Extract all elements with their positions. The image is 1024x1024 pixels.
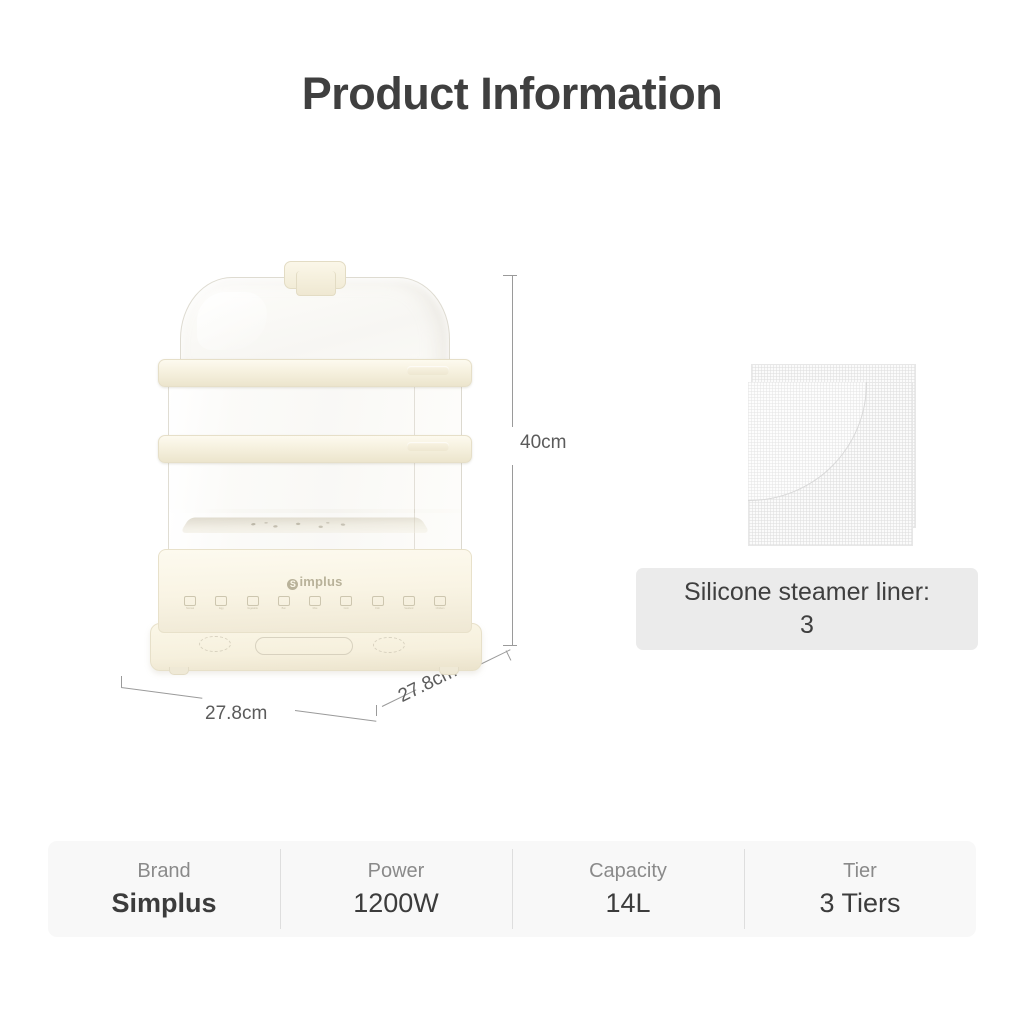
steamer-illustration: Simplus Normal Egg Vegetable Bun [150,255,480,685]
spec-label-brand: Brand [137,859,190,883]
dim-height-line-upper [512,275,513,427]
program-button[interactable]: Chicken [427,596,453,610]
program-button[interactable]: Bun [271,596,297,610]
program-bun-icon [278,596,290,606]
spec-cell-power: Power 1200W [280,841,512,937]
program-button[interactable]: Egg [208,596,234,610]
spec-value-tier: 3 Tiers [819,887,900,919]
tier-3-tray [180,518,430,533]
spec-label-capacity: Capacity [589,859,667,883]
dim-height-line-lower [512,465,513,645]
dim-width-label: 27.8cm [205,703,267,725]
program-normal-icon [184,596,196,606]
spec-label-power: Power [368,859,425,883]
program-fish-icon [372,596,384,606]
lid-knob [284,261,346,289]
silicone-liner-image [636,340,980,570]
brand-logo-mark-icon: S [287,579,298,590]
base-foot-right [439,667,459,675]
program-vegetable-icon [247,596,259,606]
program-corn-icon [340,596,352,606]
tier-1-rim [158,359,472,387]
silicone-liner-caption-line2: 3 [800,611,814,639]
program-button[interactable]: Corn [333,596,359,610]
dim-height-tick-top [503,275,517,276]
spec-value-power: 1200W [353,887,439,919]
program-seafood-icon [403,596,415,606]
dim-height-label: 40cm [520,432,566,454]
brand-logo: Simplus [159,574,471,590]
dim-height-tick-bottom [503,645,517,646]
program-button[interactable]: Normal [177,596,203,610]
liner-sheet-fold [748,382,867,501]
liner-sheet-front [748,382,913,546]
program-button[interactable]: Seafood [396,596,422,610]
page-title: Product Information [0,68,1024,120]
spec-value-brand: Simplus [111,887,216,919]
spec-cell-brand: Brand Simplus [48,841,280,937]
silicone-liner-caption: Silicone steamer liner: 3 [636,568,978,650]
spec-label-tier: Tier [843,859,877,883]
base-foot-left [169,667,189,675]
spec-cell-capacity: Capacity 14L [512,841,744,937]
touch-key-right[interactable] [373,637,405,653]
program-chicken-icon [434,596,446,606]
spec-value-capacity: 14L [605,887,650,919]
tier-3-tray-holes [239,521,366,528]
program-button[interactable]: Vegetable [240,596,266,610]
program-button[interactable]: Rice [302,596,328,610]
touch-display[interactable] [255,637,353,655]
silicone-liner-caption-line1: Silicone steamer liner: [684,578,930,606]
dim-width-tick-right [376,705,377,716]
dim-width-tick-left [121,676,122,687]
program-rice-icon [309,596,321,606]
program-egg-icon [215,596,227,606]
brand-logo-text: implus [299,574,342,589]
touch-key-left[interactable] [199,636,231,652]
spec-table: Brand Simplus Power 1200W Capacity 14L T… [48,841,976,937]
tier-2-rim [158,435,472,463]
control-panel-programs: Normal Egg Vegetable Bun Rice [177,596,453,610]
product-image: Simplus Normal Egg Vegetable Bun [95,255,535,715]
steamer-base-body: Simplus Normal Egg Vegetable Bun [158,549,472,633]
program-button[interactable]: Fish [365,596,391,610]
spec-cell-tier: Tier 3 Tiers [744,841,976,937]
silicone-liner-caption-text: Silicone steamer liner: 3 [684,576,930,642]
